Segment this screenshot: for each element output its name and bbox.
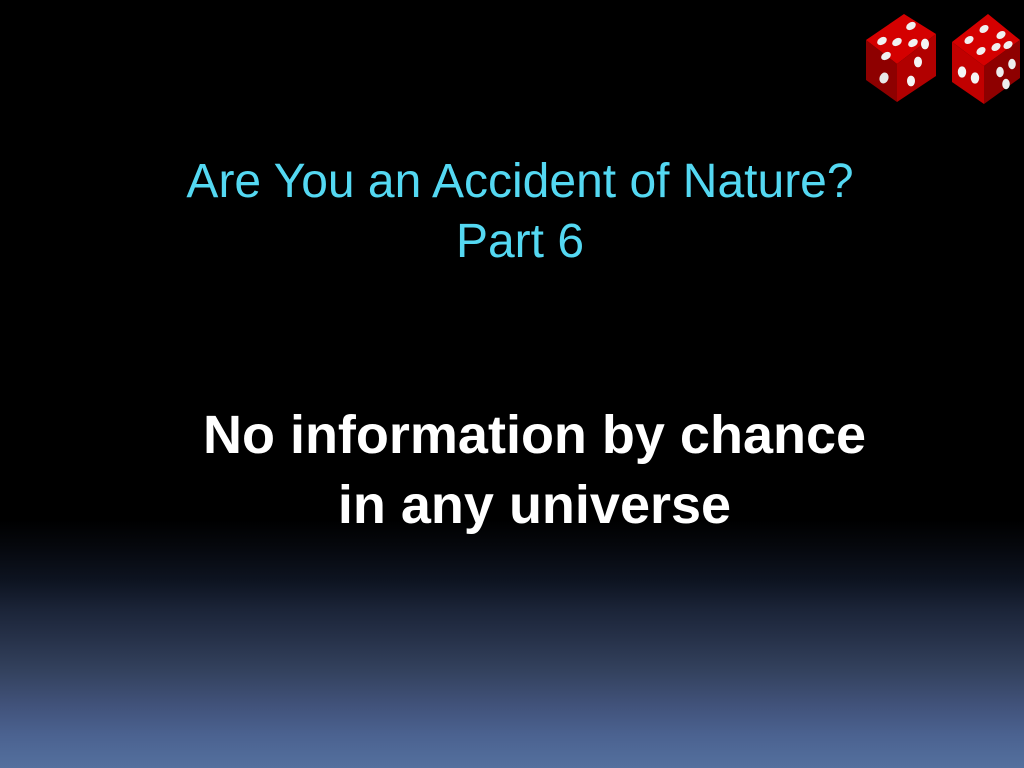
- die-icon-right: [948, 4, 1024, 108]
- slide-body-line-2: in any universe: [62, 470, 1007, 540]
- die-icon-left: [864, 12, 942, 104]
- slide-body: No information by chance in any universe: [62, 400, 1007, 540]
- presentation-slide: Are You an Accident of Nature? Part 6 No…: [0, 0, 1024, 768]
- slide-title: Are You an Accident of Nature? Part 6: [62, 152, 978, 272]
- slide-background-gradient: [0, 0, 1024, 768]
- slide-body-line-1: No information by chance: [62, 400, 1007, 470]
- slide-title-line-2: Part 6: [62, 212, 978, 272]
- slide-title-line-1: Are You an Accident of Nature?: [62, 152, 978, 212]
- dice-pair-icon: [862, 4, 1024, 112]
